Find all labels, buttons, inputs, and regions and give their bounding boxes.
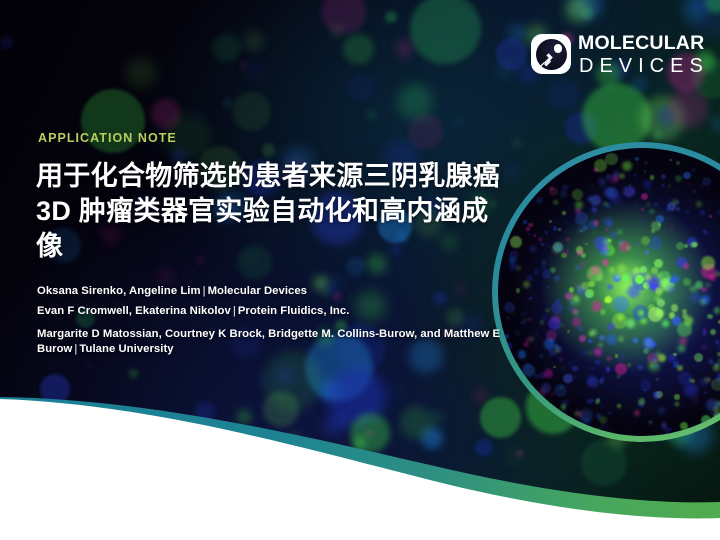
background-cell-blob (278, 367, 294, 383)
background-cell-blob (548, 79, 580, 111)
document-type-eyebrow: APPLICATION NOTE (38, 131, 177, 145)
author-separator: | (231, 305, 238, 317)
logo-line-devices: DEVICES (579, 56, 709, 76)
background-cell-blob (496, 38, 527, 69)
background-cell-blob (240, 61, 247, 68)
background-cell-blob (261, 376, 267, 382)
wave-white-path (0, 399, 720, 540)
background-cell-blob (232, 92, 271, 131)
logo-line-molecular: MOLECULAR (578, 34, 709, 54)
author-separator: | (201, 285, 208, 297)
author-affiliation: Molecular Devices (208, 285, 307, 297)
background-cell-blob (456, 118, 463, 125)
author-line: Evan F Cromwell, Ekaterina Nikolov|Prote… (37, 306, 507, 317)
author-affiliation: Tulane University (79, 343, 173, 355)
author-affiliation: Protein Fluidics, Inc. (238, 305, 350, 317)
background-cell-blob (126, 57, 157, 88)
author-names: Oksana Sirenko, Angeline Lim (37, 285, 201, 297)
author-names: Evan F Cromwell, Ekaterina Nikolov (37, 305, 231, 317)
background-cell-blob (129, 369, 138, 378)
background-cell-blob (262, 143, 276, 157)
background-cell-blob (0, 36, 13, 49)
application-note-cover-slide: MOLECULAR DEVICES APPLICATION NOTE 用于化合物… (0, 0, 720, 540)
background-cell-blob (712, 118, 720, 130)
bottom-wave-graphic (0, 390, 720, 540)
background-cell-blob (368, 111, 375, 118)
background-cell-blob (84, 362, 93, 371)
author-line: Margarite D Matossian, Courtney K Brock,… (37, 327, 507, 357)
background-cell-blob (343, 34, 373, 64)
background-cell-blob (244, 31, 264, 51)
background-cell-blob (397, 84, 432, 119)
author-line: Oksana Sirenko, Angeline Lim|Molecular D… (37, 286, 507, 297)
logo-disc (536, 39, 567, 70)
author-block: Oksana Sirenko, Angeline Lim|Molecular D… (37, 286, 507, 356)
background-cell-blob (246, 62, 264, 80)
logo-wordmark: MOLECULAR DEVICES (578, 33, 709, 76)
logo-pipette-glyph (539, 50, 556, 67)
background-cell-blob (222, 98, 232, 108)
molecular-devices-pipette-icon (531, 34, 571, 74)
background-cell-blob (213, 34, 241, 62)
molecular-devices-logo[interactable]: MOLECULAR DEVICES (531, 33, 709, 76)
page-title: 用于化合物筛选的患者来源三阴乳腺癌 3D 肿瘤类器官实验自动化和高内涵成像 (36, 159, 504, 264)
